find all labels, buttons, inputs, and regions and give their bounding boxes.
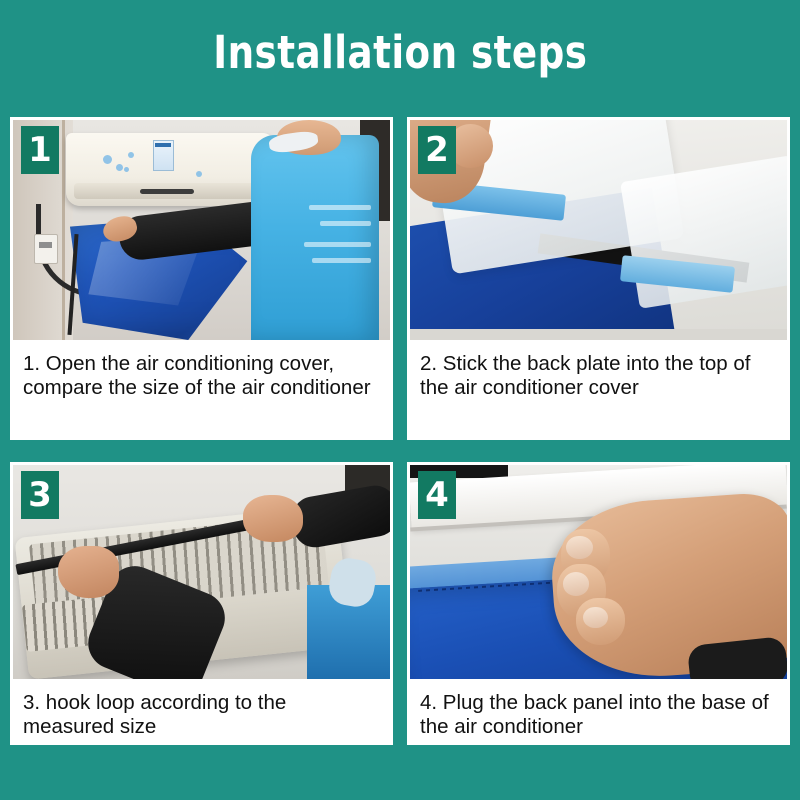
installation-steps-poster: Installation steps — [0, 0, 800, 800]
floral-decal-icon — [124, 167, 129, 172]
step-photo-2: 2 — [410, 120, 787, 340]
floral-decal-icon — [128, 152, 134, 158]
step-caption-1: 1. Open the air conditioning cover, comp… — [13, 340, 390, 440]
scene-plug-panel — [410, 465, 787, 679]
fingernail — [563, 572, 589, 596]
step-caption-3: 3. hook loop according to the measured s… — [13, 679, 390, 745]
unit-energy-label — [153, 140, 174, 171]
fingernail — [583, 607, 608, 628]
vest-print — [309, 205, 371, 210]
scene-open-cover — [13, 120, 390, 340]
step-badge-1: 1 — [21, 126, 59, 174]
table-surface — [410, 329, 787, 340]
wall-socket — [34, 234, 58, 264]
step-photo-1: 1 — [13, 120, 390, 340]
step-card-1[interactable]: 1 1. Open the air conditioning cover, co… — [10, 117, 393, 440]
worker-hand-right — [243, 495, 303, 542]
unit-display-slot — [140, 189, 194, 194]
title-bar: Installation steps — [0, 0, 800, 104]
step-caption-4: 4. Plug the back panel into the base of … — [410, 679, 787, 745]
page-title: Installation steps — [213, 30, 587, 75]
worker-sleeve-right — [288, 482, 390, 551]
scene-back-plate — [410, 120, 787, 340]
step-badge-3: 3 — [21, 471, 59, 519]
vest-print — [320, 221, 371, 226]
step-badge-4: 4 — [418, 471, 456, 519]
scene-hook-loop — [13, 465, 390, 679]
step-caption-2: 2. Stick the back plate into the top of … — [410, 340, 787, 440]
worker-hand-left — [58, 546, 118, 597]
step-badge-2: 2 — [418, 126, 456, 174]
air-conditioner-unit — [66, 133, 273, 206]
steps-grid: 1 1. Open the air conditioning cover, co… — [10, 117, 790, 745]
step-photo-4: 4 — [410, 465, 787, 679]
step-card-2[interactable]: 2 2. Stick the back plate into the top o… — [407, 117, 790, 440]
floral-decal-icon — [103, 155, 112, 164]
vest-print — [312, 258, 371, 263]
step-photo-3: 3 — [13, 465, 390, 679]
step-card-4[interactable]: 4 4. Plug the back panel into the base o… — [407, 462, 790, 745]
floral-decal-icon — [116, 164, 123, 171]
fingernail — [566, 536, 592, 560]
worker-vest — [251, 135, 379, 340]
vest-print — [304, 242, 371, 247]
step-card-3[interactable]: 3 3. hook loop according to the measured… — [10, 462, 393, 745]
floral-decal-icon — [196, 171, 202, 177]
